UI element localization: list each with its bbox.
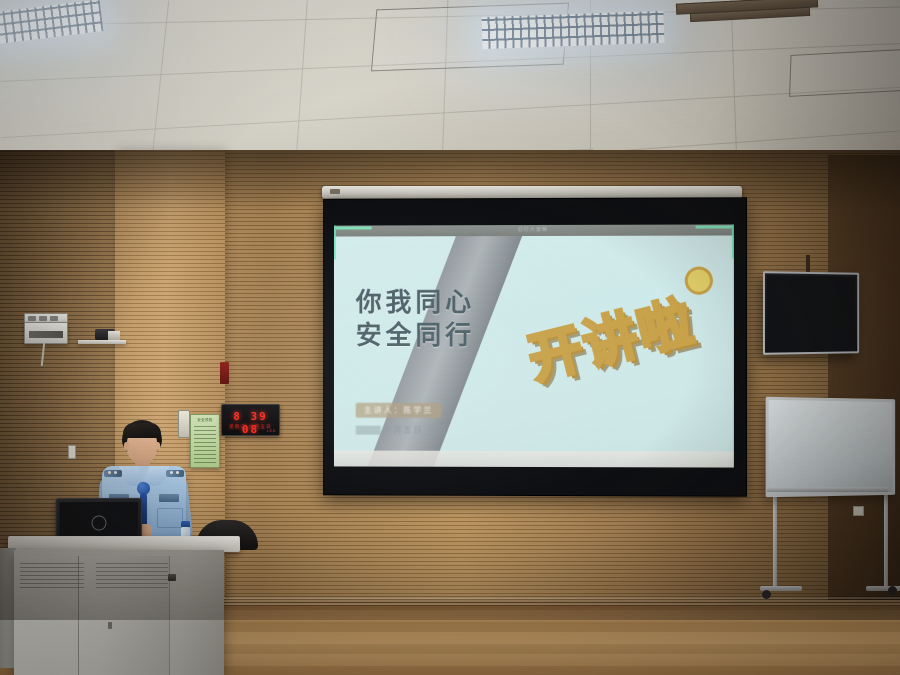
wall-lighting-falloff	[0, 150, 900, 620]
lecture-room-photo: 安全须知 8 39 08 星期三 六月五日 LED 幻灯片放映 你我同心 安全同…	[0, 0, 900, 675]
podium-lock[interactable]	[108, 622, 112, 629]
